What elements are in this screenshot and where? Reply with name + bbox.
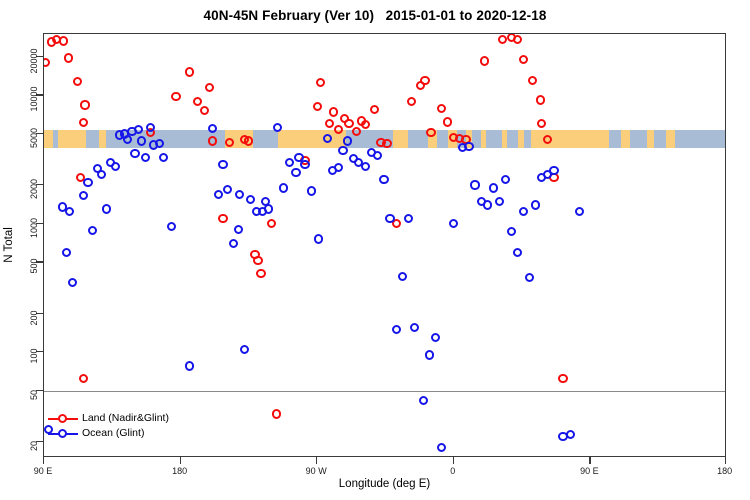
data-point-ocean: [83, 178, 92, 187]
data-point-ocean: [291, 168, 300, 177]
data-point-ocean: [234, 225, 243, 234]
data-point-land: [528, 76, 537, 85]
x-tick: [725, 457, 726, 464]
data-point-ocean: [470, 180, 479, 189]
data-point-land: [200, 106, 209, 115]
legend-label-land: Land (Nadir&Glint): [82, 412, 169, 425]
data-point-ocean: [240, 345, 249, 354]
legend-item-land: Land (Nadir&Glint): [48, 411, 169, 426]
x-tick-label: 180: [717, 466, 732, 476]
x-tick: [453, 457, 454, 464]
data-point-land: [59, 36, 68, 45]
y-tick-label: 20: [29, 441, 39, 451]
x-tick: [316, 457, 317, 464]
data-point-land: [443, 117, 452, 126]
data-point-ocean: [575, 207, 584, 216]
ocean-strip-segment: [675, 130, 726, 148]
data-point-land: [225, 138, 234, 147]
data-point-land: [513, 35, 522, 44]
data-point-ocean: [519, 207, 528, 216]
data-point-ocean: [185, 361, 194, 370]
data-point-land: [185, 67, 194, 76]
data-point-ocean: [338, 146, 347, 155]
data-point-land: [480, 56, 489, 65]
plot-area: [43, 33, 726, 457]
ocean-strip-segment: [86, 130, 98, 148]
data-point-ocean: [392, 325, 401, 334]
data-point-ocean: [111, 162, 120, 171]
data-point-land: [316, 78, 325, 87]
legend-label-ocean: Ocean (Glint): [82, 427, 144, 440]
data-point-land: [407, 97, 416, 106]
data-point-land: [205, 83, 214, 92]
data-point-land: [370, 105, 379, 114]
x-tick: [43, 457, 44, 464]
data-point-ocean: [279, 183, 288, 192]
data-point-ocean: [285, 158, 294, 167]
data-point-ocean: [373, 151, 382, 160]
y-axis: 20501002005001000200050001000020000: [0, 33, 43, 457]
data-point-ocean: [531, 200, 540, 209]
data-point-land: [171, 92, 180, 101]
x-axis: 90 E18090 W090 E180: [43, 457, 726, 497]
data-point-land: [325, 119, 334, 128]
data-point-land: [79, 118, 88, 127]
data-point-ocean: [483, 200, 492, 209]
data-point-ocean: [79, 191, 88, 200]
ocean-strip-segment: [253, 130, 277, 148]
data-point-ocean: [68, 278, 77, 287]
ocean-strip-segment: [53, 130, 58, 148]
data-point-land: [256, 269, 265, 278]
data-point-ocean: [134, 125, 143, 134]
data-point-ocean: [130, 149, 139, 158]
data-point-ocean: [146, 123, 155, 132]
data-point-ocean: [65, 207, 74, 216]
data-point-ocean: [419, 396, 428, 405]
data-point-ocean: [300, 160, 309, 169]
y-tick-label: 1000: [29, 218, 39, 238]
data-point-ocean: [343, 136, 352, 145]
data-point-ocean: [102, 204, 111, 213]
data-point-ocean: [88, 226, 97, 235]
ocean-strip-segment: [486, 130, 503, 148]
data-point-land: [426, 128, 435, 137]
data-point-ocean: [501, 175, 510, 184]
data-point-ocean: [495, 197, 504, 206]
data-point-land: [519, 55, 528, 64]
ocean-strip-segment: [437, 130, 448, 148]
data-point-land: [253, 256, 262, 265]
y-tick-label: 2000: [29, 179, 39, 199]
data-point-land: [64, 53, 73, 62]
data-point-land: [344, 119, 353, 128]
x-tick-label: 0: [450, 466, 455, 476]
ocean-strip-segment: [408, 130, 428, 148]
data-point-land: [73, 77, 82, 86]
data-point-ocean: [549, 166, 558, 175]
data-point-ocean: [566, 430, 575, 439]
x-tick-label: 180: [172, 466, 187, 476]
chart-title: 40N-45N February (Ver 10) 2015-01-01 to …: [0, 8, 750, 23]
data-point-ocean: [449, 219, 458, 228]
data-point-ocean: [410, 323, 419, 332]
data-point-ocean: [137, 136, 146, 145]
data-point-ocean: [525, 273, 534, 282]
data-point-ocean: [62, 248, 71, 257]
data-point-land: [193, 97, 202, 106]
data-point-ocean: [229, 239, 238, 248]
data-point-land: [267, 219, 276, 228]
x-tick: [589, 457, 590, 464]
data-point-ocean: [379, 175, 388, 184]
data-point-land: [498, 35, 507, 44]
data-point-ocean: [385, 214, 394, 223]
data-point-ocean: [404, 214, 413, 223]
ocean-strip-segment: [654, 130, 666, 148]
y-tick-label: 10000: [29, 87, 39, 112]
data-point-ocean: [431, 333, 440, 342]
data-point-land: [536, 95, 545, 104]
data-point-ocean: [97, 170, 106, 179]
x-tick-label: 90 E: [34, 466, 53, 476]
y-tick-label: 500: [29, 259, 39, 274]
data-point-land: [80, 100, 89, 109]
data-point-ocean: [437, 443, 446, 452]
chart-legend: Land (Nadir&Glint) Ocean (Glint): [48, 411, 169, 441]
data-point-ocean: [141, 153, 150, 162]
y-tick-label: 5000: [29, 128, 39, 148]
x-tick-label: 90 E: [580, 466, 599, 476]
chart-root: 40N-45N February (Ver 10) 2015-01-01 to …: [0, 0, 750, 500]
data-point-ocean: [425, 350, 434, 359]
data-point-land: [537, 119, 546, 128]
data-point-ocean: [489, 183, 498, 192]
x-axis-title: Longitude (deg E): [43, 478, 726, 490]
data-point-land: [558, 374, 567, 383]
reference-line: [44, 391, 725, 392]
y-tick-label: 100: [29, 349, 39, 364]
data-point-land: [437, 104, 446, 113]
data-point-ocean: [235, 190, 244, 199]
data-point-ocean: [398, 272, 407, 281]
data-point-ocean: [361, 162, 370, 171]
data-point-land: [79, 374, 88, 383]
data-point-land: [218, 214, 227, 223]
ocean-strip-segment: [524, 130, 532, 148]
data-point-ocean: [167, 222, 176, 231]
x-tick: [180, 457, 181, 464]
y-tick-label: 20000: [29, 48, 39, 73]
data-point-ocean: [223, 185, 232, 194]
data-point-land: [272, 409, 281, 418]
data-point-land: [43, 58, 50, 67]
data-point-land: [313, 102, 322, 111]
y-tick-label: 200: [29, 310, 39, 325]
data-point-ocean: [264, 204, 273, 213]
legend-marker-ocean-icon: [48, 427, 78, 440]
data-point-land: [361, 120, 370, 129]
data-point-ocean: [214, 190, 223, 199]
data-point-land: [382, 139, 391, 148]
ocean-strip-segment: [507, 130, 518, 148]
data-point-ocean: [159, 153, 168, 162]
y-tick-label: 50: [29, 390, 39, 400]
ocean-strip-segment: [630, 130, 647, 148]
data-point-ocean: [218, 160, 227, 169]
data-point-land: [420, 76, 429, 85]
data-point-ocean: [513, 248, 522, 257]
data-point-ocean: [507, 227, 516, 236]
data-point-ocean: [307, 186, 316, 195]
data-point-ocean: [334, 163, 343, 172]
ocean-strip-segment: [609, 130, 621, 148]
data-point-land: [329, 107, 338, 116]
data-point-land: [208, 136, 217, 145]
x-tick-label: 90 W: [306, 466, 327, 476]
data-point-ocean: [246, 195, 255, 204]
legend-marker-land-icon: [48, 412, 78, 425]
legend-item-ocean: Ocean (Glint): [48, 426, 169, 441]
data-point-ocean: [464, 142, 473, 151]
data-point-ocean: [314, 234, 323, 243]
